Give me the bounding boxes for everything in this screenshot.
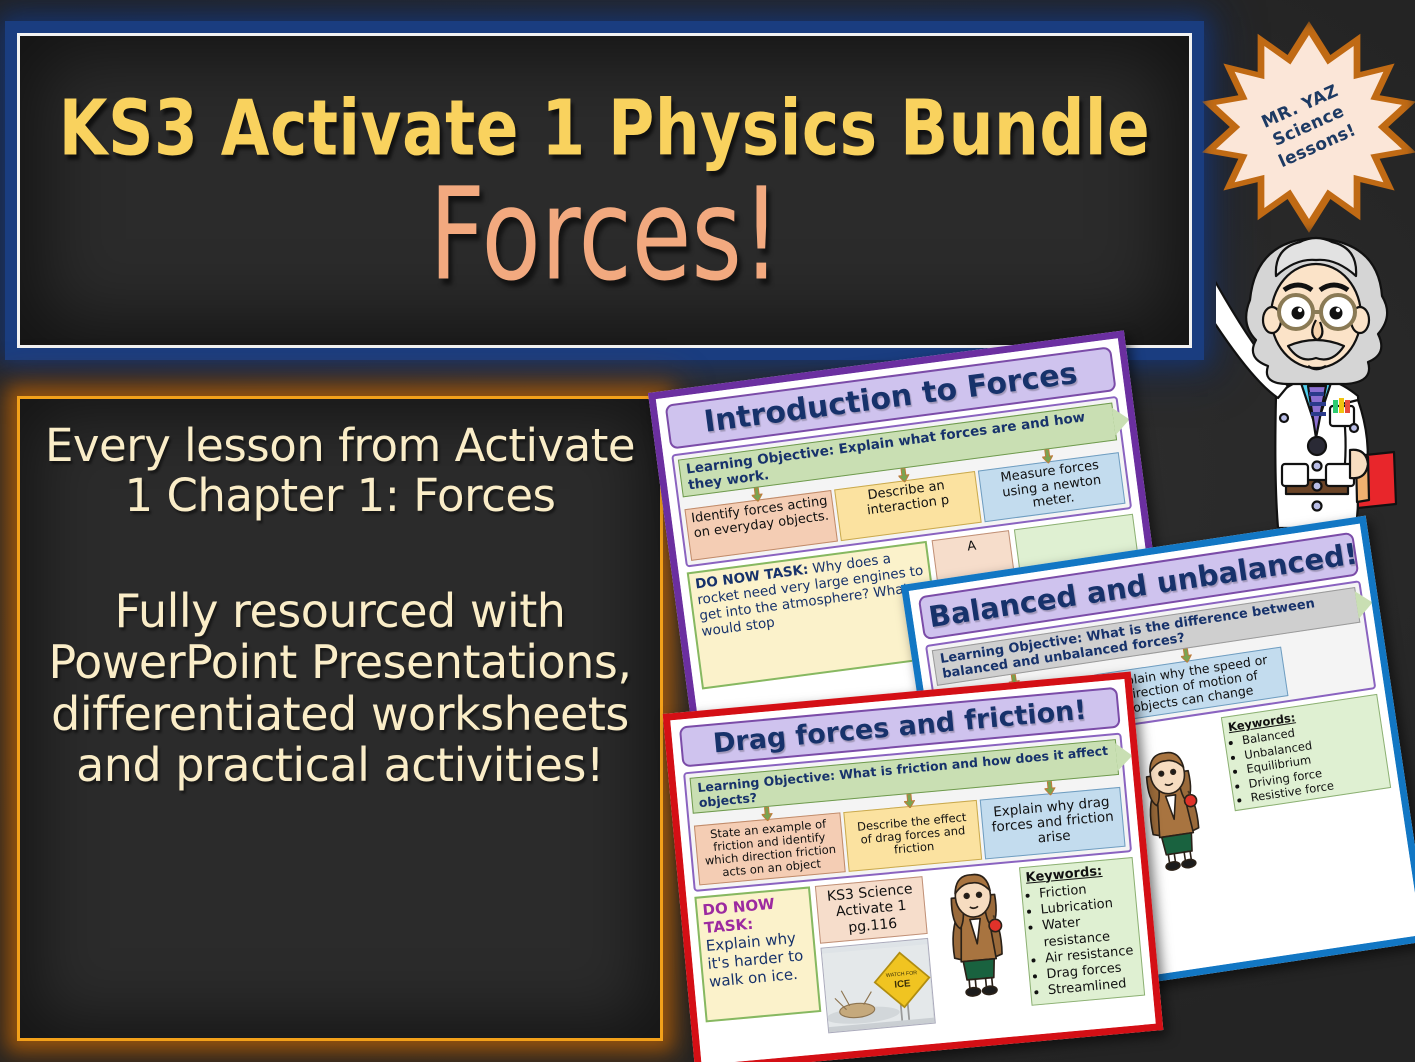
svg-text:ICE: ICE bbox=[894, 978, 912, 990]
objective-text: Describe an interaction p bbox=[866, 478, 950, 518]
bundle-title-line2: Forces! bbox=[429, 175, 781, 296]
slide-intro-do-now-task: DO NOW TASK: Why does a rocket need very… bbox=[687, 541, 942, 690]
objective-spacer bbox=[1284, 634, 1369, 695]
slide-drag-do-now-task: DO NOW TASK: Explain why it's harder to … bbox=[694, 886, 821, 1022]
description-panel: Every lesson from Activate 1 Chapter 1: … bbox=[17, 396, 663, 1041]
ice-warning-sign-icon: WATCH FOR ICE bbox=[822, 939, 935, 1032]
objective-box: Measure forces using a newton meter. bbox=[978, 452, 1125, 522]
slide-drag-inner: Drag forces and friction! Learning Objec… bbox=[670, 679, 1155, 1062]
arrow-right-icon bbox=[1115, 742, 1133, 771]
slide-drag-middle-col: KS3 Science Activate 1 pg.116 WATCH FOR … bbox=[815, 876, 935, 1034]
badge-text: MR. YAZ Science lessons! bbox=[1177, 0, 1415, 258]
objective-text: Explain why drag forces and friction ari… bbox=[986, 794, 1120, 851]
objective-box: Describe the effect of drag forces and f… bbox=[843, 800, 982, 871]
description-block-1: Every lesson from Activate 1 Chapter 1: … bbox=[36, 421, 644, 522]
down-arrow-icon bbox=[898, 468, 911, 483]
bundle-title-line1: KS3 Activate 1 Physics Bundle bbox=[59, 90, 1151, 167]
objective-text: Describe the effect of drag forces and f… bbox=[849, 811, 976, 861]
down-arrow-icon bbox=[1041, 449, 1054, 464]
description-block-2: Fully resourced with PowerPoint Presenta… bbox=[36, 586, 644, 792]
mr-yaz-badge: MR. YAZ Science lessons! bbox=[1209, 28, 1409, 226]
do-now-text: Explain why it's harder to walk on ice. bbox=[705, 928, 804, 990]
slip-on-ice-photo: WATCH FOR ICE bbox=[821, 938, 936, 1033]
objective-box: Identify forces acting on everyday objec… bbox=[684, 490, 838, 561]
page-ref-line-2: Activate 1 pg.116 bbox=[835, 898, 907, 936]
isaac-newton-icon bbox=[927, 869, 1025, 1000]
objective-box: State an example of friction and identif… bbox=[694, 812, 846, 885]
arrow-right-icon bbox=[1112, 406, 1132, 436]
arrow-right-icon bbox=[1355, 589, 1375, 619]
objective-box: Explain why drag forces and friction ari… bbox=[980, 787, 1125, 859]
slide-balanced-keywords: Keywords: Balanced Unbalanced Equilibriu… bbox=[1221, 694, 1392, 812]
do-now-text: Why does a rocket need very large engine… bbox=[696, 550, 924, 640]
title-panel: KS3 Activate 1 Physics Bundle Forces! bbox=[17, 33, 1192, 348]
slide-drag-page-ref: KS3 Science Activate 1 pg.116 bbox=[815, 876, 927, 944]
objective-text: Measure forces using a newton meter. bbox=[1000, 458, 1102, 511]
down-arrow-icon bbox=[761, 807, 773, 822]
keywords-list: Friction Lubrication Water resistance Ai… bbox=[1027, 878, 1139, 1001]
slide-drag-keywords: Keywords: Friction Lubrication Water res… bbox=[1019, 857, 1145, 1006]
objective-text: State an example of friction and identif… bbox=[704, 817, 836, 879]
down-arrow-icon bbox=[904, 794, 916, 809]
slide-drag-forces-and-friction[interactable]: Drag forces and friction! Learning Objec… bbox=[663, 671, 1164, 1062]
down-arrow-icon bbox=[1044, 781, 1056, 796]
slide-drag-newton-figure bbox=[927, 867, 1025, 1000]
down-arrow-icon bbox=[751, 487, 764, 502]
poster-canvas: KS3 Activate 1 Physics Bundle Forces! Ev… bbox=[0, 0, 1415, 1062]
objective-box: Describe an interaction p bbox=[835, 471, 982, 541]
down-arrow-icon bbox=[1180, 648, 1193, 663]
